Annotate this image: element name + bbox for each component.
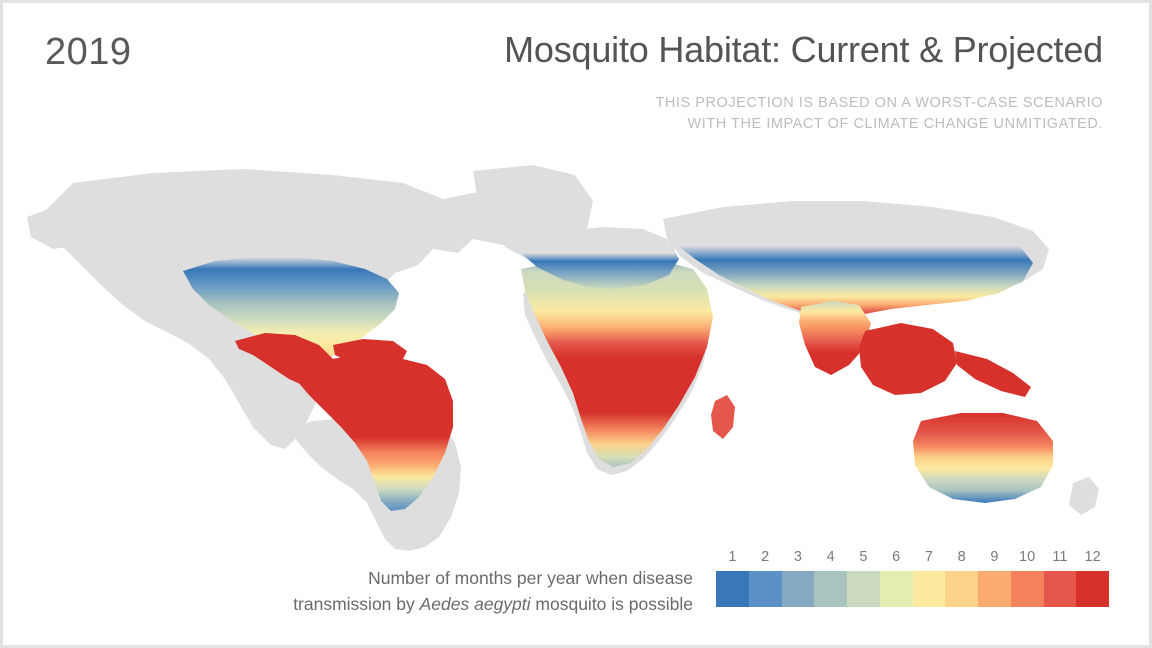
- world-map: [3, 153, 1149, 553]
- legend-swatch-3: [782, 571, 815, 607]
- habitat-southeast-asia: [859, 323, 957, 395]
- species-name: Aedes aegypti: [420, 594, 531, 614]
- legend-swatch-8: [945, 571, 978, 607]
- legend-tick-5: 5: [847, 549, 880, 571]
- legend-tick-9: 9: [978, 549, 1011, 571]
- infographic-page: 2019 Mosquito Habitat: Current & Project…: [0, 0, 1152, 648]
- legend-tick-6: 6: [880, 549, 913, 571]
- legend-swatch-4: [814, 571, 847, 607]
- legend-color-bar: [716, 571, 1109, 607]
- legend-tick-2: 2: [749, 549, 782, 571]
- legend-swatch-1: [716, 571, 749, 607]
- world-map-svg: [3, 153, 1149, 553]
- page-title: Mosquito Habitat: Current & Projected: [504, 29, 1103, 71]
- legend-tick-10: 10: [1011, 549, 1044, 571]
- legend-tick-11: 11: [1044, 549, 1077, 571]
- caption-line-1: Number of months per year when disease: [368, 568, 693, 588]
- legend-tick-12: 12: [1076, 549, 1109, 571]
- legend-swatch-10: [1011, 571, 1044, 607]
- habitat-madagascar: [711, 395, 735, 439]
- legend-tick-7: 7: [913, 549, 946, 571]
- color-legend: 123456789101112: [716, 549, 1109, 607]
- legend-tick-labels: 123456789101112: [716, 549, 1109, 571]
- caption-line-2-prefix: transmission by: [293, 594, 419, 614]
- habitat-australia: [913, 413, 1053, 503]
- legend-swatch-11: [1044, 571, 1077, 607]
- habitat-new-guinea: [955, 351, 1031, 397]
- legend-swatch-9: [978, 571, 1011, 607]
- legend-swatch-2: [749, 571, 782, 607]
- year-label: 2019: [45, 31, 132, 74]
- legend-swatch-5: [847, 571, 880, 607]
- legend-tick-1: 1: [716, 549, 749, 571]
- legend-swatch-12: [1076, 571, 1109, 607]
- caption-line-2-suffix: mosquito is possible: [531, 594, 693, 614]
- legend-caption: Number of months per year when disease t…: [63, 565, 693, 618]
- subtitle: THIS PROJECTION IS BASED ON A WORST-CASE…: [655, 93, 1103, 135]
- legend-tick-4: 4: [814, 549, 847, 571]
- legend-swatch-6: [880, 571, 913, 607]
- habitat-india: [799, 301, 871, 375]
- legend-tick-8: 8: [945, 549, 978, 571]
- legend-swatch-7: [913, 571, 946, 607]
- legend-tick-3: 3: [782, 549, 815, 571]
